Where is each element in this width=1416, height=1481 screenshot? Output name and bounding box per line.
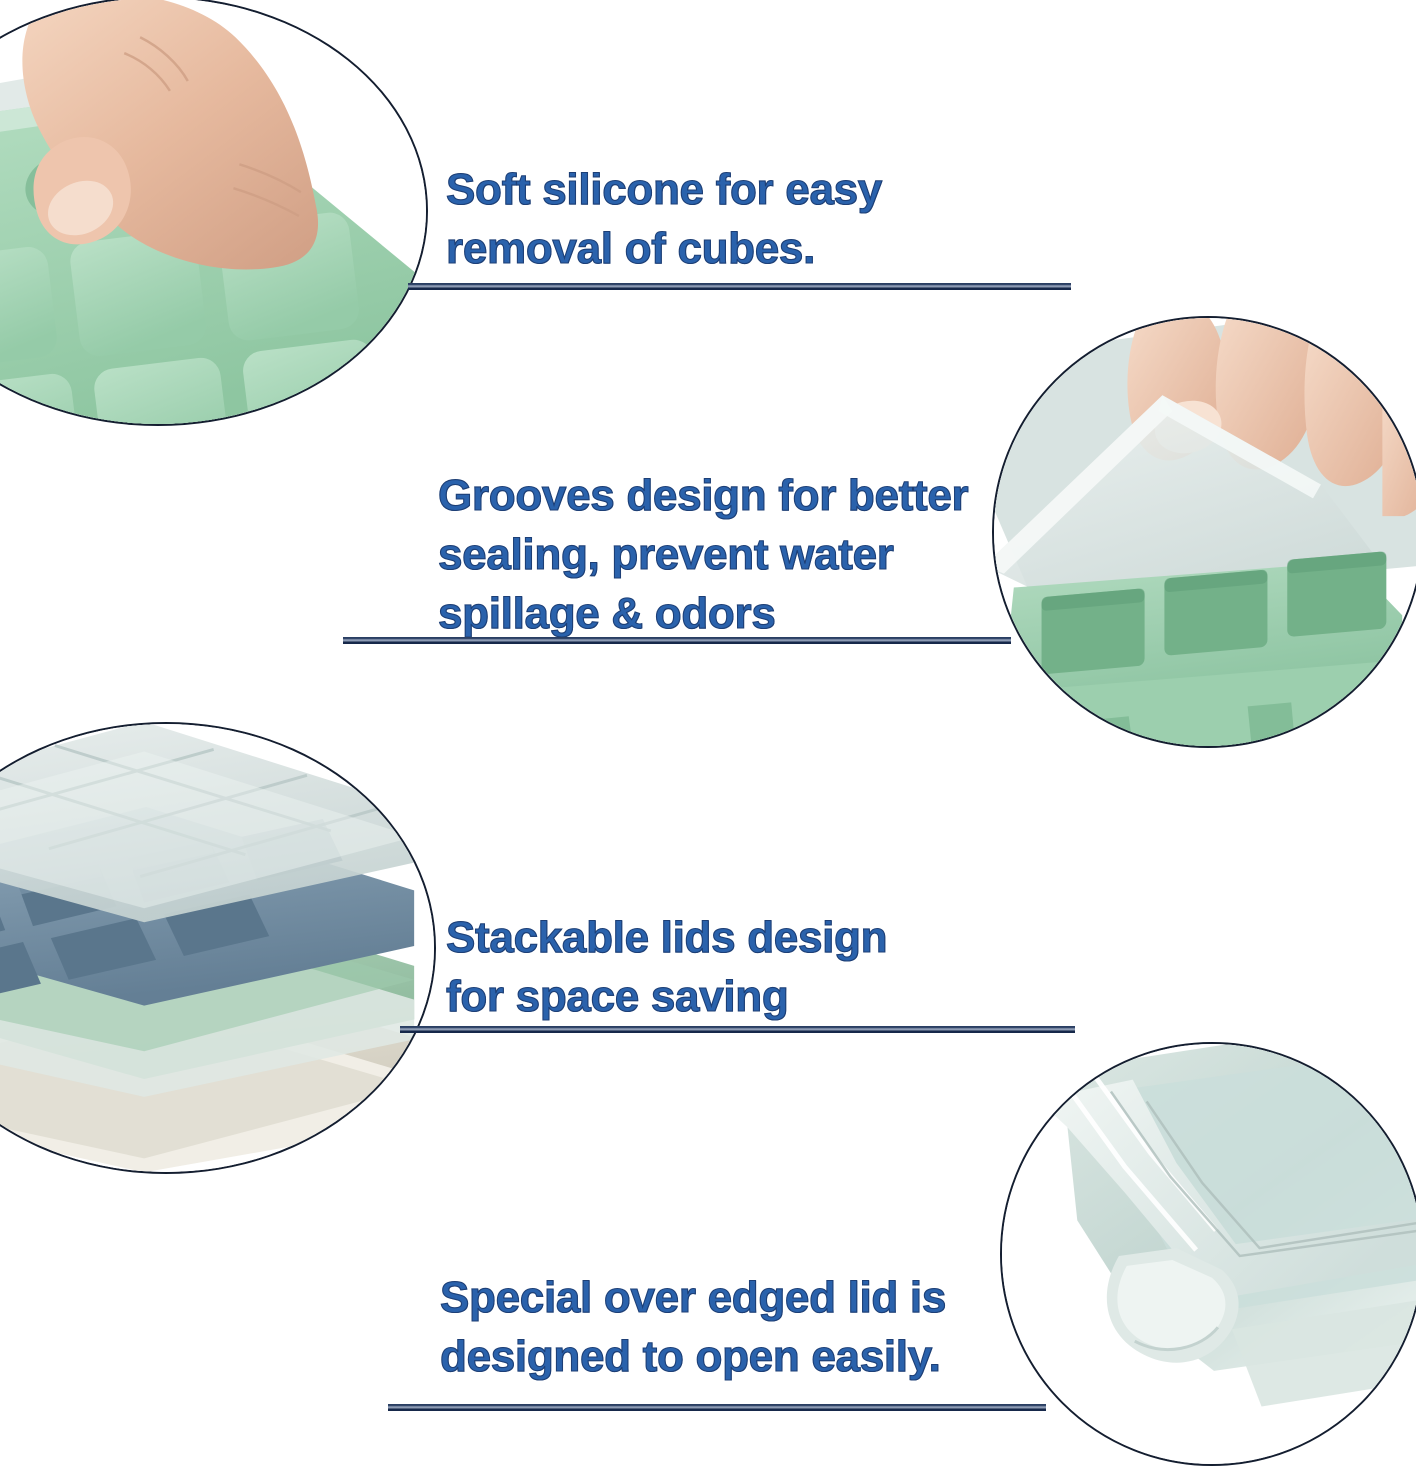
feature-rule-over-edged-lid — [388, 1404, 1046, 1411]
feature-rule-stackable-lids — [400, 1026, 1075, 1033]
product-feature-infographic: { "page": { "background_color": "#ffffff… — [0, 0, 1416, 1481]
feature-caption-stackable-lids: Stackable lids design for space saving — [446, 908, 986, 1026]
stacked-trays-photo — [0, 722, 436, 1174]
feature-rule-grooves-sealing — [343, 637, 1011, 644]
hand-lifting-lid-photo — [992, 316, 1416, 748]
feature-rule-soft-silicone — [408, 283, 1071, 290]
page-title: Silicone ice cube tray with lid - produc… — [0, 0, 1, 1]
feature-caption-soft-silicone: Soft silicone for easy removal of cubes. — [446, 160, 1006, 278]
feature-caption-grooves-sealing: Grooves design for better sealing, preve… — [438, 466, 1028, 643]
hand-pressing-green-tray-photo — [0, 0, 428, 426]
feature-caption-over-edged-lid: Special over edged lid is designed to op… — [440, 1268, 1020, 1386]
lid-corner-closeup-photo — [1000, 1042, 1416, 1466]
